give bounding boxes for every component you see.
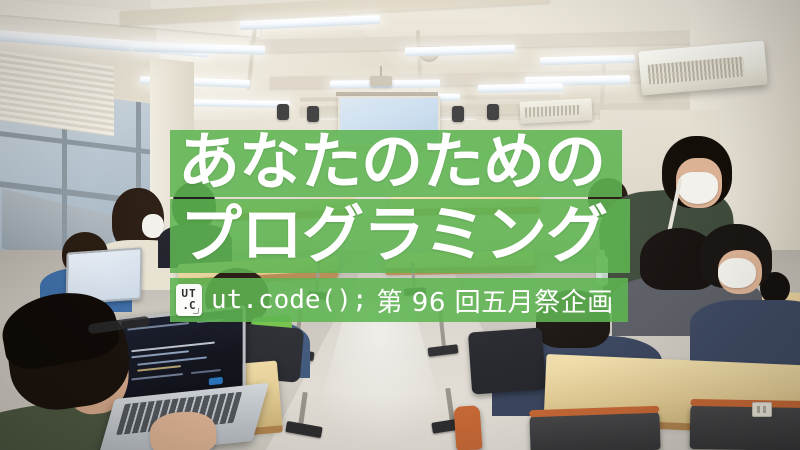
air-conditioner-unit: [519, 98, 592, 124]
chair-trim: [690, 399, 800, 408]
ac-grille: [648, 56, 745, 84]
person-body: [690, 300, 800, 370]
ac-grille: [525, 105, 581, 118]
wall-speaker: [487, 104, 499, 120]
ceiling-projector: [370, 76, 392, 86]
classroom-chair: [529, 410, 660, 450]
event-title: 第 96 回五月祭企画: [377, 282, 614, 319]
wall-speaker: [452, 106, 464, 122]
fluorescent-light: [478, 83, 563, 92]
backpack: [468, 327, 546, 394]
wall-speaker: [277, 104, 289, 120]
face-mask: [678, 172, 718, 204]
classroom-chair: [690, 403, 800, 450]
headline-line2: プログラミング: [180, 204, 607, 266]
wall-outlet: [752, 402, 772, 417]
headline-line1: あなたのための: [178, 131, 605, 193]
wall-speaker: [307, 106, 319, 122]
brand-name: ut.code();: [211, 285, 368, 315]
subtitle-band: UT .C ut.code(); 第 96 回五月祭企画: [170, 278, 628, 322]
headline-band-line2: プログラミング: [170, 199, 630, 273]
headline-band-line1: あなたのための: [170, 130, 622, 197]
logo-corner-mark: [193, 308, 199, 314]
classroom-chair: [453, 405, 482, 450]
poster-image: あなたのための プログラミング UT .C ut.code(); 第 96 回五…: [0, 0, 800, 450]
face-mask: [718, 258, 756, 288]
utcode-logo: UT .C: [176, 284, 202, 316]
